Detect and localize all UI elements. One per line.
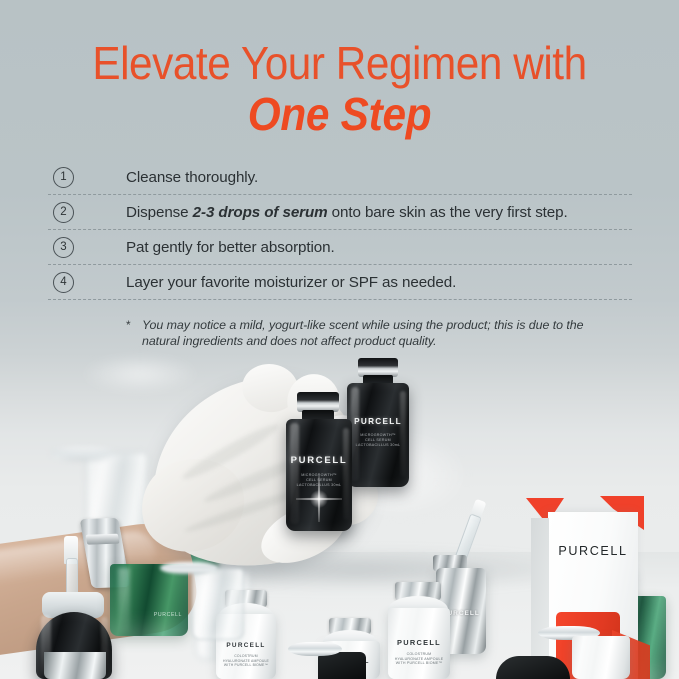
hero-bottle-front-cap	[297, 392, 339, 412]
hero-bottle-front-brand: PURCELL	[286, 455, 352, 466]
ampoule-right: PURCELL COLOSTRUMHYALURONATE AMPOULEWITH…	[388, 608, 450, 679]
step-text-1: Cleanse thoroughly.	[126, 169, 258, 186]
step-text-2-emphasis: 2-3 drops of serum	[193, 204, 328, 221]
headline-line-2: One Step	[27, 88, 652, 140]
step-text-2-before: Dispense	[126, 204, 193, 221]
clear-jar-back-left-rim	[51, 448, 117, 460]
steps-list: 1 Cleanse thoroughly. 2 Dispense 2-3 dro…	[48, 160, 632, 300]
ampoule-left-sub: COLOSTRUMHYALURONATE AMPOULEWITH PURCELL…	[216, 654, 276, 668]
step-text-4-main: Layer your favorite moisturizer or SPF a…	[126, 274, 456, 291]
step-number-badge-3: 3	[53, 237, 74, 258]
step-number-badge-4: 4	[53, 272, 74, 293]
hero-bottle-back: PURCELL MICROGROWTH™CELL SERUMLACTOBACIL…	[347, 383, 409, 487]
ampoule-right-sub: COLOSTRUMHYALURONATE AMPOULEWITH PURCELL…	[388, 652, 450, 666]
step-text-2: Dispense 2-3 drops of serum onto bare sk…	[126, 204, 568, 221]
dark-bottle-foreground-rim	[288, 642, 342, 656]
ampoule-right-brand: PURCELL	[388, 638, 450, 647]
step-number-badge-1: 1	[53, 167, 74, 188]
step-text-1-main: Cleanse thoroughly.	[126, 169, 258, 186]
footnote: * You may notice a mild, yogurt-like sce…	[126, 317, 596, 349]
ampoule-left-brand: PURCELL	[216, 642, 276, 649]
step-row-3: 3 Pat gently for better absorption.	[48, 230, 632, 265]
headline-block: Elevate Your Regimen with One Step	[0, 38, 679, 140]
step-text-2-after: onto bare skin as the very first step.	[328, 204, 568, 221]
dark-cap-foreground	[496, 656, 570, 679]
hero-bottle-front-glint	[296, 476, 342, 522]
step-row-4: 4 Layer your favorite moisturizer or SPF…	[48, 265, 632, 300]
step-number-badge-2: 2	[53, 202, 74, 223]
footnote-asterisk: *	[126, 317, 142, 349]
hero-bottle-back-brand: PURCELL	[347, 417, 409, 426]
step-text-4: Layer your favorite moisturizer or SPF a…	[126, 274, 456, 291]
product-box-side-panel	[531, 518, 549, 679]
green-jar-foreground: PURCELL	[110, 564, 188, 636]
green-jar-brand: PURCELL	[154, 612, 182, 618]
step-text-3: Pat gently for better absorption.	[126, 239, 335, 256]
headline-line-1: Elevate Your Regimen with	[27, 38, 652, 88]
white-bottle-front-box	[572, 636, 630, 679]
clear-jar-right-of-green-rim	[160, 562, 218, 574]
dark-dropper-base	[44, 652, 106, 679]
haze-left	[80, 354, 200, 394]
step-row-2: 2 Dispense 2-3 drops of serum onto bare …	[48, 195, 632, 230]
promo-graphic: Elevate Your Regimen with One Step 1 Cle…	[0, 0, 679, 679]
hero-bottle-back-sub: MICROGROWTH™CELL SERUMLACTOBACILLUS 30mL	[347, 433, 409, 448]
product-photo: PURCELL MICROGROWTH™CELL SERUMLACTOBACIL…	[0, 300, 679, 679]
product-box-brand: PURCELL	[548, 544, 638, 558]
step-row-1: 1 Cleanse thoroughly.	[48, 160, 632, 195]
footnote-text: You may notice a mild, yogurt-like scent…	[142, 317, 596, 349]
dark-bottle-foreground	[318, 652, 366, 679]
clear-jar-right-of-green	[192, 568, 244, 640]
step-text-3-main: Pat gently for better absorption.	[126, 239, 335, 256]
